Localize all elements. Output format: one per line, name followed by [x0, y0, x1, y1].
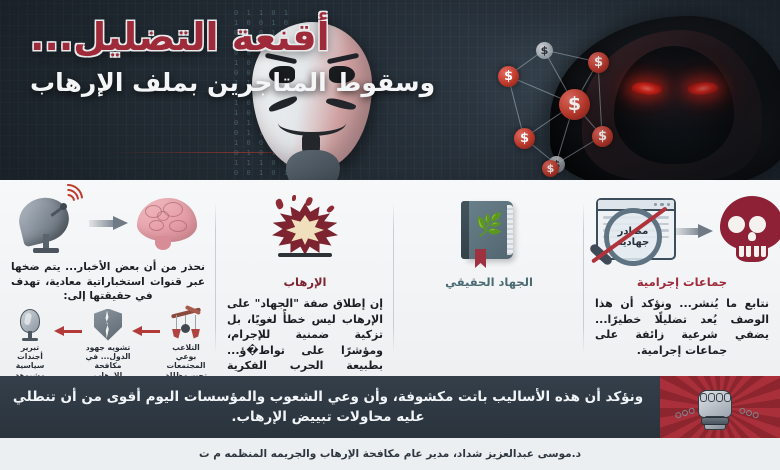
shield-body [94, 309, 122, 341]
brain-stem [155, 236, 171, 250]
book-ribbon [475, 249, 486, 268]
target-shield: تشويه جهود الدول... في مكافحة الإرهاب [84, 308, 132, 381]
mic-base [22, 338, 38, 341]
puppet-icon [162, 308, 210, 342]
puppet-string [176, 315, 177, 329]
skull-teeth [739, 246, 767, 257]
page-title-line2: وسقوط المتاجرين بملف الإرهاب [30, 66, 480, 100]
skull-eye-left [728, 216, 745, 233]
card-media: نحذر من أن بعض الأخبار... يتم ضخها عبر ق… [0, 180, 216, 376]
target-microphone: تبرير أجندات سياسية مشبوهة [6, 308, 54, 381]
card-terror-icons [222, 188, 388, 274]
credit-text: د.موسى عبدالعزيز شداد، مدير عام مكافحة ا… [199, 448, 581, 460]
card-media-targets: التلاعب بوعي المجتمعات تحت مظللة تشويه ج… [6, 308, 210, 381]
card-sources-result-label: جماعات إجرامية [590, 276, 774, 289]
arrow-left-icon [54, 317, 84, 347]
brain-fold [149, 220, 164, 231]
fist-knuckles [700, 393, 731, 402]
podium-microphone-icon [6, 308, 54, 342]
content-card-strip: مصادر جهادية جماعات إجرامية نتابع ما يُن… [0, 180, 780, 376]
card-terror: الإرهاب إن إطلاق صفة "الجهاد" على الإرها… [216, 180, 394, 376]
explosion-spark [274, 198, 285, 210]
dish-base [33, 248, 59, 253]
header-banner: 1 0 1 1 0 0 1 0 0 1 1 1 0 1 0 0 0 1 1 1 … [0, 0, 780, 180]
book-icon: 🌿 [461, 199, 517, 263]
puppet-string [195, 315, 196, 329]
card-jihad-icons: 🌿 [400, 188, 578, 274]
magnifier-browser-icon: مصادر جهادية [590, 194, 668, 268]
chain-links-right [739, 407, 760, 419]
arrow-right-icon [674, 224, 714, 238]
explosion-spark [326, 204, 335, 213]
target-puppet-caption: التلاعب بوعي المجتمعات تحت مظللة [162, 343, 210, 381]
card-jihad-label: الجهاد الحقيقي [400, 276, 578, 289]
broken-cuff [701, 417, 729, 425]
brain-fold [157, 211, 169, 221]
card-jihad: 🌿 الجهاد الحقيقي [394, 180, 584, 376]
card-terror-label: الإرهاب [222, 276, 388, 289]
card-sources: مصادر جهادية جماعات إجرامية نتابع ما يُن… [584, 180, 780, 376]
banner-text: ونؤكد أن هذه الأساليب باتت مكشوفة، وأن و… [0, 387, 660, 427]
dish-receiver [60, 203, 67, 210]
explosion-spark [292, 195, 296, 201]
arrow-left-icon [132, 317, 162, 347]
browser-dot [667, 203, 671, 207]
cracked-shield-icon [84, 308, 132, 342]
puppet-head [181, 324, 190, 333]
skull-eye-right [749, 216, 766, 233]
skull-icon [720, 196, 774, 266]
brain-icon [135, 194, 199, 252]
puppet-arm-right [191, 329, 200, 339]
skull-nose [748, 232, 756, 241]
explosion-icon [266, 199, 344, 263]
browser-dot [654, 203, 658, 207]
book-pages [507, 205, 513, 255]
explosion-ground [278, 253, 332, 257]
browser-dot [660, 203, 664, 207]
bottom-banner: ونؤكد أن هذه الأساليب باتت مكشوفة، وأن و… [0, 376, 780, 438]
card-media-body: نحذر من أن بعض الأخبار... يتم ضخها عبر ق… [6, 260, 210, 304]
puppet-arm-left [172, 329, 181, 339]
arrow-right-icon [89, 216, 129, 230]
target-shield-caption: تشويه جهود الدول... في مكافحة الإرهاب [84, 343, 132, 381]
credit-bar: د.موسى عبدالعزيز شداد، مدير عام مكافحة ا… [0, 438, 780, 470]
card-media-icons [6, 188, 210, 258]
olive-branch-icon: 🌿 [481, 213, 503, 239]
card-sources-body: نتابع ما يُنشر... ونؤكد أن هذا الوصف يُع… [590, 296, 774, 358]
brain-fold [169, 220, 187, 232]
target-microphone-caption: تبرير أجندات سياسية مشبوهة [6, 343, 54, 381]
card-sources-icons: مصادر جهادية [590, 188, 774, 274]
chain-links-left [675, 407, 696, 419]
broken-chain-fist-icon [660, 376, 780, 438]
satellite-dish-icon [17, 190, 83, 256]
target-puppet: التلاعب بوعي المجتمعات تحت مظللة [162, 308, 210, 381]
book-spine [461, 201, 469, 259]
page-title-line1: أقنعة التضليل... [30, 14, 480, 60]
